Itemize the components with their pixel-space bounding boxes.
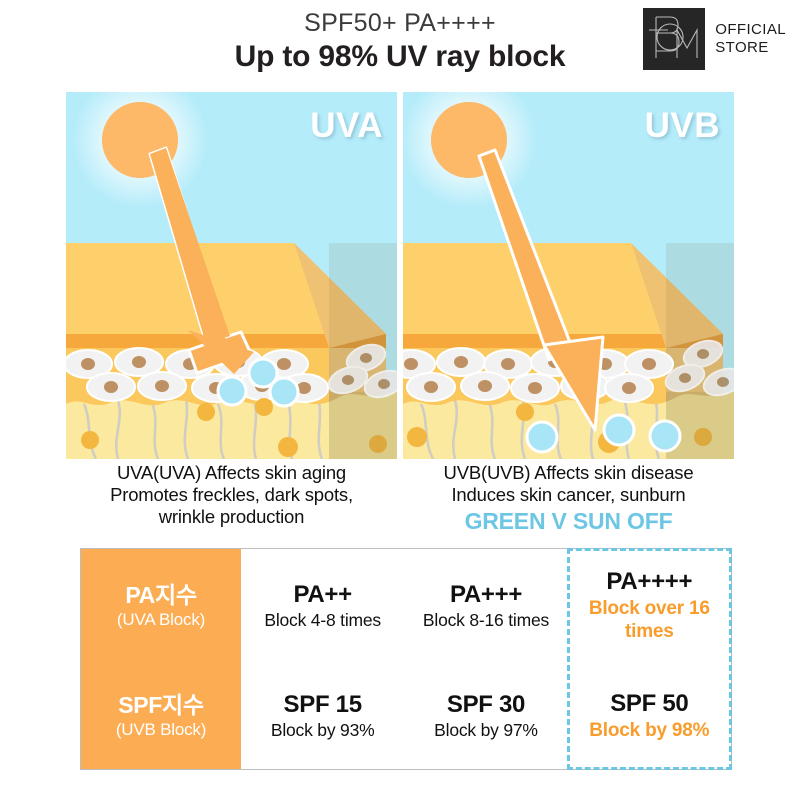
uva-caption-line1: UVA(UVA) Affects skin aging — [66, 462, 397, 484]
page-header: SPF50+ PA++++ Up to 98% UV ray block OFF… — [0, 0, 800, 92]
panel-captions: UVA(UVA) Affects skin aging Promotes fre… — [66, 462, 734, 532]
cell-pa3-spf: SPF 30 Block by 97% — [404, 659, 567, 769]
cell-pa3-pa: PA+++ Block 8-16 times — [404, 549, 567, 659]
brand-block: OFFICIAL STORE — [643, 8, 786, 70]
spf15-desc: Block by 93% — [271, 720, 375, 741]
brand-store-label: STORE — [715, 39, 786, 57]
uvb-panel-label: UVB — [645, 106, 720, 146]
spf30-value: SPF 30 — [447, 690, 525, 720]
table-data-columns: PA++ Block 4-8 times SPF 15 Block by 93%… — [241, 549, 731, 769]
uva-caption-line2: Promotes freckles, dark spots, — [66, 484, 397, 506]
spf50-value: SPF 50 — [610, 689, 688, 719]
spf15-value: SPF 15 — [284, 690, 362, 720]
table-column-pa3: PA+++ Block 8-16 times SPF 30 Block by 9… — [404, 549, 567, 769]
row-header-spf: SPF지수 (UVB Block) — [81, 659, 241, 769]
table-row-header-column: PA지수 (UVA Block) SPF지수 (UVB Block) — [81, 549, 241, 769]
uva-panel-label: UVA — [310, 106, 383, 146]
uvb-panel: UVB — [403, 92, 734, 459]
pa4-desc: Block over 16 times — [568, 597, 731, 643]
uvb-caption-line2: Induces skin cancer, sunburn — [403, 484, 734, 506]
spf50-desc: Block by 98% — [589, 719, 709, 742]
uvb-caption-line1: UVB(UVB) Affects skin disease — [403, 462, 734, 484]
table-column-pa4-highlighted: PA++++ Block over 16 times SPF 50 Block … — [568, 549, 731, 769]
spf-pa-table: PA지수 (UVA Block) SPF지수 (UVB Block) PA++ … — [80, 548, 732, 770]
product-name-label: GREEN V SUN OFF — [403, 510, 734, 532]
table-body: PA지수 (UVA Block) SPF지수 (UVB Block) PA++ … — [81, 549, 731, 769]
uva-caption-line3: wrinkle production — [66, 506, 397, 528]
pa3-value: PA+++ — [450, 580, 522, 610]
brand-store-text: OFFICIAL STORE — [715, 21, 786, 57]
uva-panel: UVA — [66, 92, 397, 459]
uva-caption: UVA(UVA) Affects skin aging Promotes fre… — [66, 462, 397, 532]
table-column-pa2: PA++ Block 4-8 times SPF 15 Block by 93% — [241, 549, 404, 769]
cell-pa2-pa: PA++ Block 4-8 times — [241, 549, 404, 659]
bom-logo-icon — [643, 8, 705, 70]
row-header-pa: PA지수 (UVA Block) — [81, 549, 241, 659]
cell-pa2-spf: SPF 15 Block by 93% — [241, 659, 404, 769]
spf30-desc: Block by 97% — [434, 720, 538, 741]
cell-pa4-pa: PA++++ Block over 16 times — [568, 549, 731, 659]
pa2-desc: Block 4-8 times — [264, 610, 381, 631]
pa4-value: PA++++ — [606, 567, 692, 597]
row-header-pa-main: PA지수 — [125, 581, 196, 609]
pa3-desc: Block 8-16 times — [423, 610, 549, 631]
uv-panels: UVA — [66, 92, 734, 459]
brand-official-label: OFFICIAL — [715, 21, 786, 39]
row-header-spf-sub: (UVB Block) — [116, 719, 206, 741]
row-header-spf-main: SPF지수 — [118, 691, 204, 719]
row-header-pa-sub: (UVA Block) — [117, 609, 205, 631]
pa2-value: PA++ — [293, 580, 351, 610]
cell-pa4-spf: SPF 50 Block by 98% — [568, 659, 731, 769]
uvb-caption: UVB(UVB) Affects skin disease Induces sk… — [403, 462, 734, 532]
